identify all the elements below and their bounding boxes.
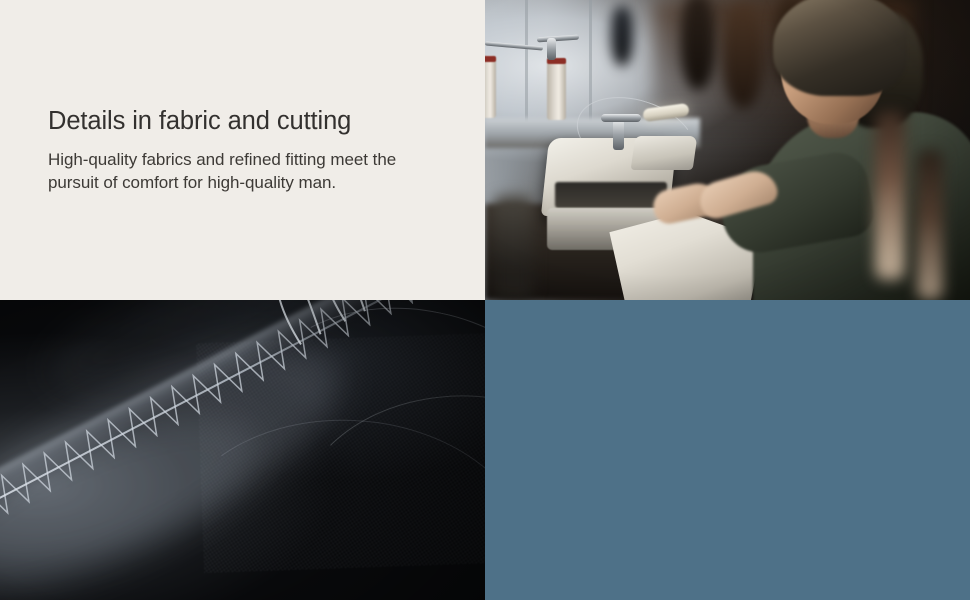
stitch-macro-photo [0, 300, 485, 600]
fabric-panel-heading: Details in fabric and cutting [48, 106, 439, 137]
design-text-inner: Details in design and workmanship Basic … [485, 300, 970, 600]
product-feature-banner: Details in fabric and cutting High-quali… [0, 0, 970, 600]
photo-vignette [0, 300, 485, 600]
photo-vignette [485, 0, 970, 300]
fabric-panel-body: High-quality fabrics and refined fitting… [48, 149, 439, 194]
design-text-panel: Details in design and workmanship Basic … [485, 300, 970, 600]
fabric-text-panel: Details in fabric and cutting High-quali… [0, 0, 485, 300]
sewing-workshop-photo [485, 0, 970, 300]
